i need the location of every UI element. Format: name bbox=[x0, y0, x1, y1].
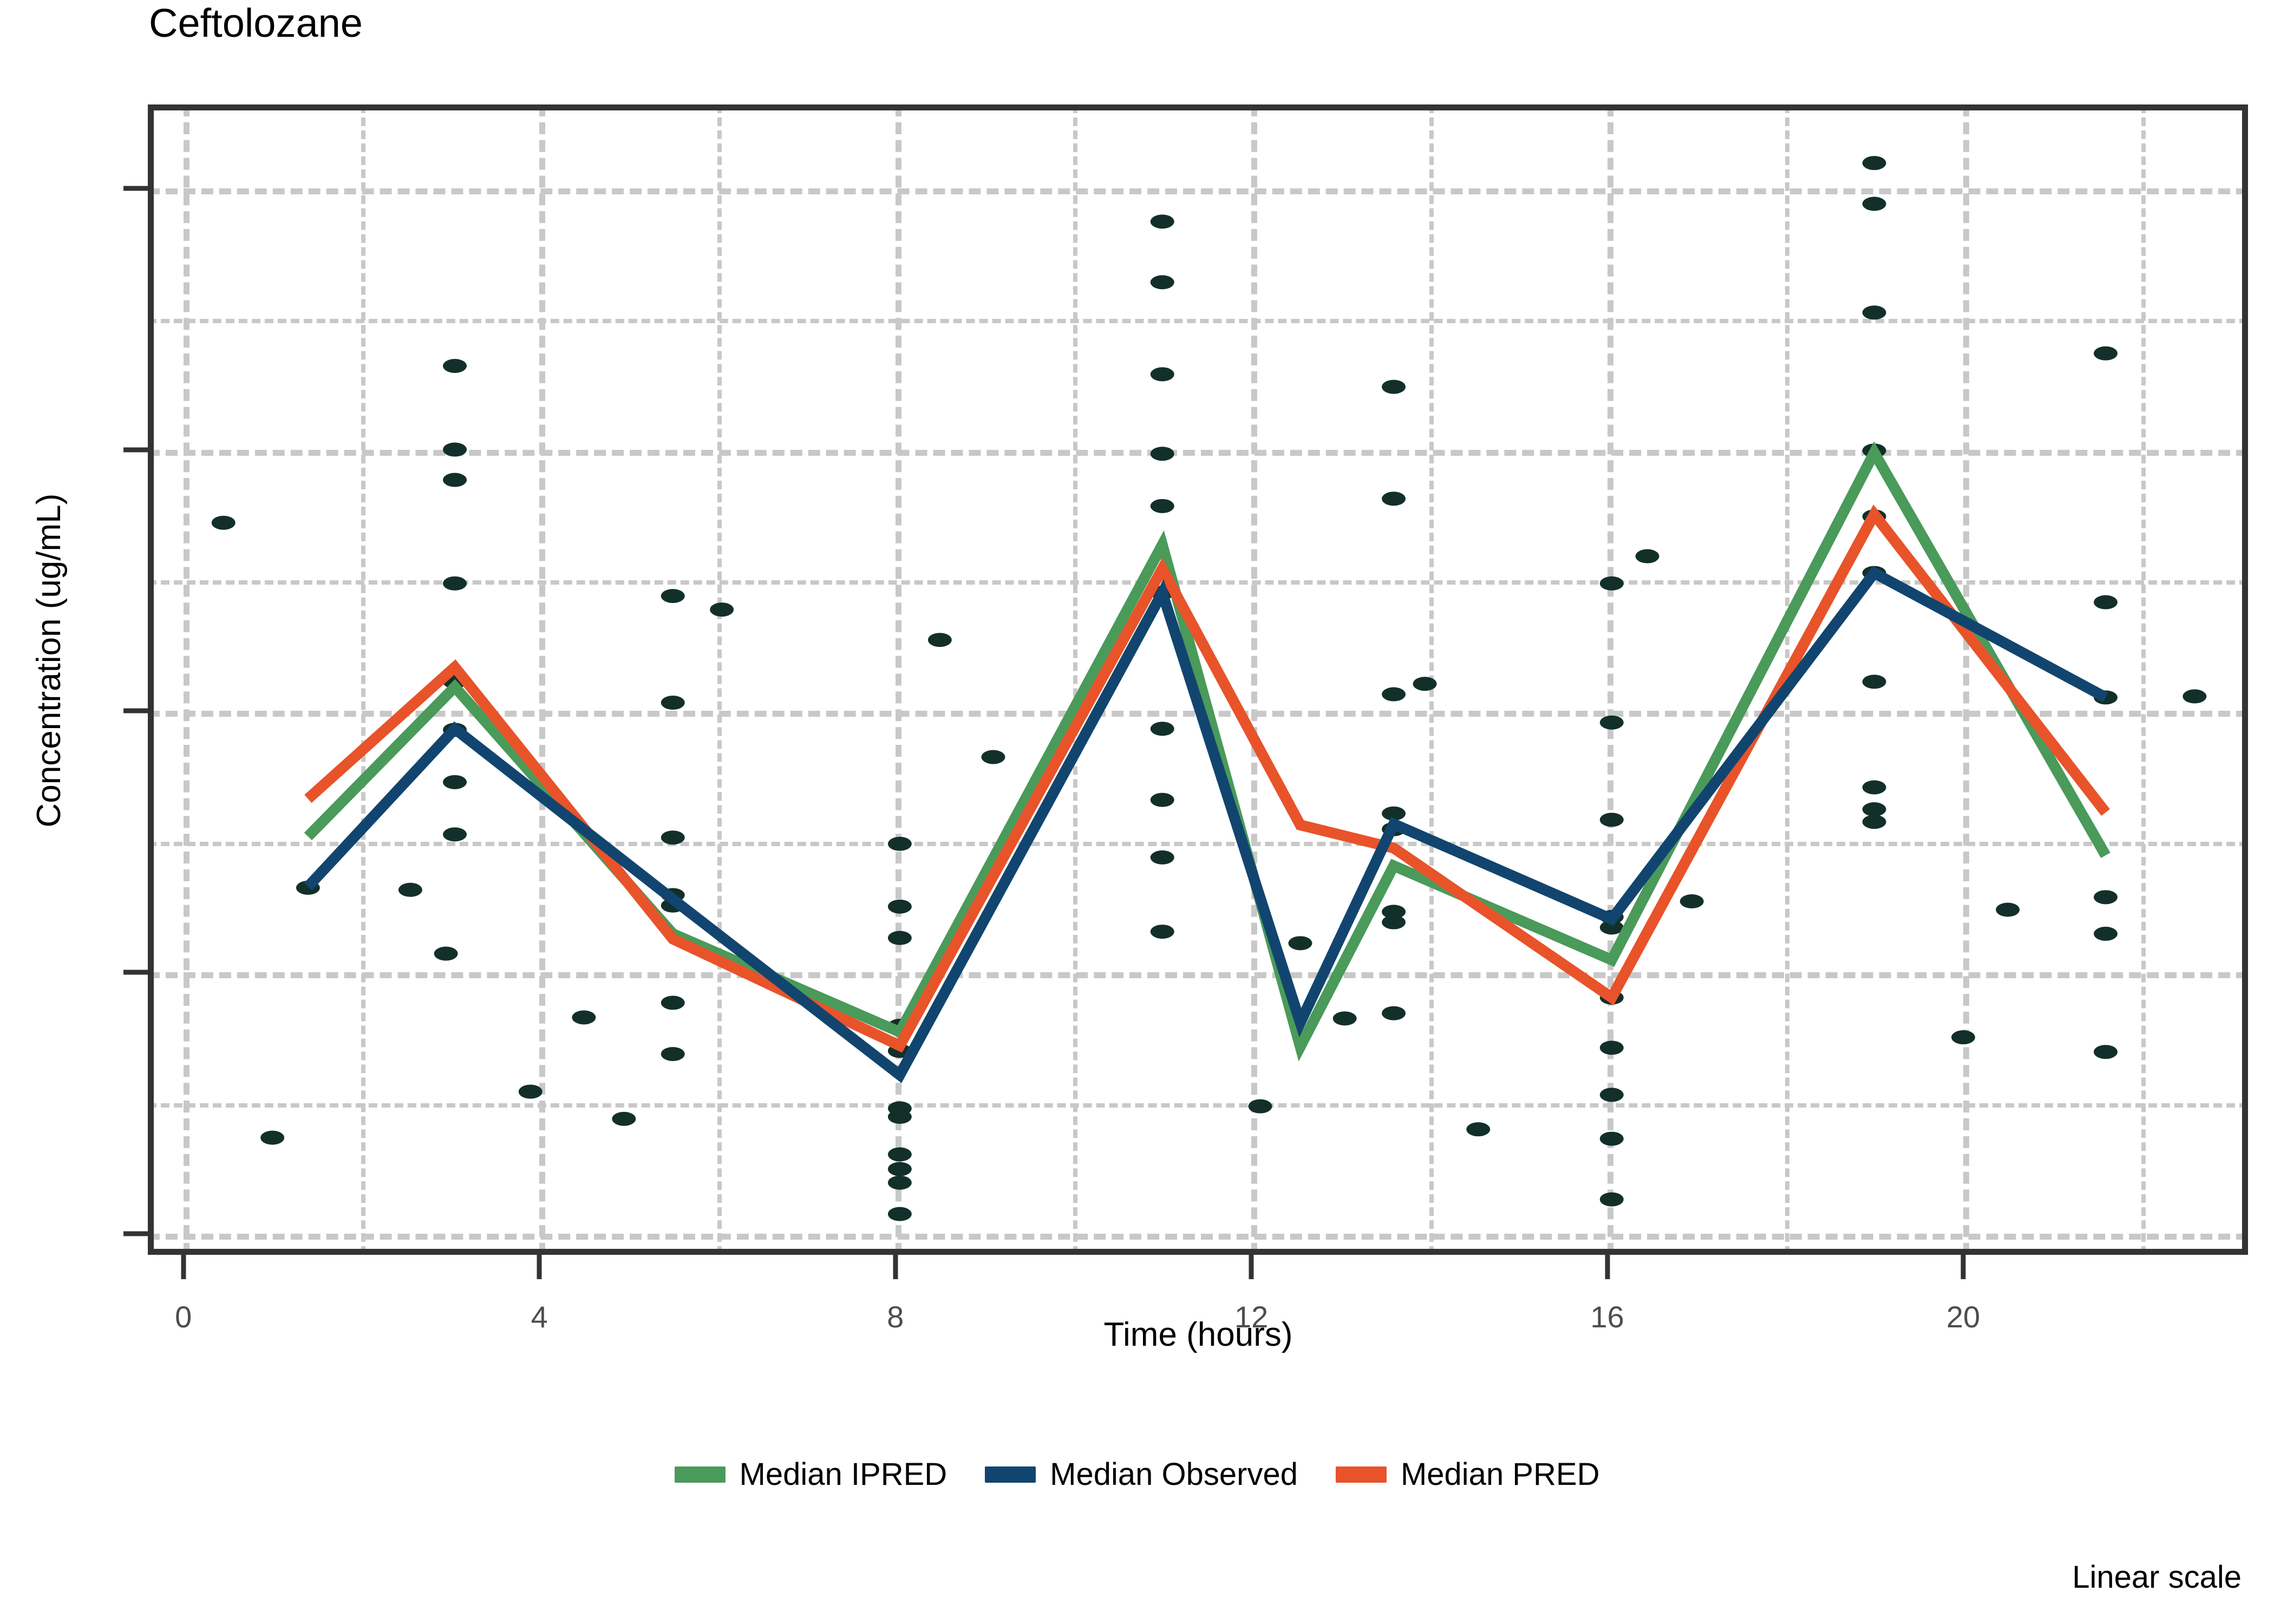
x-axis-label: Time (hours) bbox=[148, 1315, 2249, 1354]
legend-item[interactable]: Median PRED bbox=[1336, 1456, 1599, 1492]
observed-point bbox=[443, 577, 467, 591]
x-tick-mark bbox=[1605, 1255, 1610, 1279]
observed-point bbox=[1382, 915, 1406, 929]
observed-point bbox=[888, 931, 912, 945]
observed-point bbox=[710, 603, 734, 617]
scale-caption: Linear scale bbox=[2072, 1559, 2242, 1595]
observed-point bbox=[1249, 1099, 1272, 1114]
observed-point bbox=[2094, 595, 2118, 610]
observed-point bbox=[1600, 1088, 1624, 1102]
observed-point bbox=[1151, 447, 1174, 461]
observed-point bbox=[1151, 925, 1174, 939]
observed-point bbox=[981, 750, 1005, 764]
legend-label: Median IPRED bbox=[740, 1456, 948, 1492]
observed-point bbox=[434, 947, 458, 961]
observed-point bbox=[572, 1010, 596, 1024]
observed-point bbox=[1680, 894, 1704, 908]
observed-point bbox=[2094, 927, 2118, 941]
observed-point bbox=[612, 1112, 636, 1126]
y-tick-mark bbox=[123, 709, 148, 713]
observed-point bbox=[443, 359, 467, 373]
observed-point bbox=[1996, 903, 2020, 917]
legend-item[interactable]: Median IPRED bbox=[675, 1456, 948, 1492]
observed-point bbox=[888, 1176, 912, 1190]
observed-point bbox=[1333, 1011, 1357, 1025]
legend-label: Median Observed bbox=[1050, 1456, 1298, 1492]
observed-point bbox=[1863, 815, 1886, 829]
observed-point bbox=[1289, 936, 1312, 950]
legend-color-swatch-icon bbox=[1336, 1466, 1387, 1483]
observed-point bbox=[1863, 197, 1886, 211]
observed-point bbox=[1636, 549, 1659, 564]
observed-point bbox=[443, 827, 467, 841]
observed-point bbox=[888, 1110, 912, 1124]
y-tick-mark bbox=[123, 970, 148, 975]
observed-point bbox=[1951, 1030, 1975, 1044]
chart-root: Ceftolozane 0255075100048121620 Concentr… bbox=[0, 0, 2274, 1624]
observed-point bbox=[888, 1162, 912, 1176]
observed-point bbox=[1600, 813, 1624, 827]
observed-point bbox=[443, 443, 467, 457]
legend-color-swatch-icon bbox=[985, 1466, 1036, 1483]
observed-point bbox=[661, 830, 685, 844]
legend-label: Median PRED bbox=[1401, 1456, 1599, 1492]
observed-point bbox=[212, 516, 236, 530]
observed-points-group bbox=[212, 156, 2207, 1221]
observed-point bbox=[2094, 890, 2118, 904]
observed-point bbox=[1466, 1122, 1490, 1136]
observed-point bbox=[661, 1047, 685, 1061]
observed-point bbox=[1151, 850, 1174, 865]
observed-point bbox=[1863, 802, 1886, 816]
observed-point bbox=[928, 633, 952, 647]
observed-point bbox=[888, 900, 912, 914]
observed-point bbox=[1382, 687, 1406, 702]
legend-color-swatch-icon bbox=[675, 1466, 726, 1483]
series-line-median-ipred bbox=[308, 453, 2106, 1046]
observed-point bbox=[888, 1207, 912, 1221]
observed-point bbox=[1600, 1132, 1624, 1146]
observed-point bbox=[1382, 1006, 1406, 1020]
legend-item[interactable]: Median Observed bbox=[985, 1456, 1298, 1492]
x-tick-mark bbox=[893, 1255, 898, 1279]
x-tick-mark bbox=[181, 1255, 186, 1279]
observed-point bbox=[1151, 275, 1174, 289]
observed-point bbox=[443, 473, 467, 487]
observed-point bbox=[519, 1085, 543, 1099]
y-tick-mark bbox=[123, 186, 148, 191]
observed-point bbox=[1151, 722, 1174, 736]
observed-point bbox=[1863, 156, 1886, 170]
x-tick-mark bbox=[1249, 1255, 1254, 1279]
observed-point bbox=[661, 696, 685, 710]
series-line-median-pred bbox=[308, 514, 2106, 1045]
observed-point bbox=[1863, 780, 1886, 794]
observed-point bbox=[661, 589, 685, 603]
observed-point bbox=[398, 883, 422, 897]
observed-point bbox=[888, 1148, 912, 1162]
x-tick-mark bbox=[537, 1255, 542, 1279]
observed-point bbox=[260, 1131, 284, 1145]
y-tick-mark bbox=[123, 447, 148, 452]
observed-point bbox=[1151, 367, 1174, 381]
observed-point bbox=[1600, 716, 1624, 730]
page-title: Ceftolozane bbox=[149, 3, 363, 43]
observed-point bbox=[2094, 1045, 2118, 1059]
observed-point bbox=[2094, 346, 2118, 361]
observed-point bbox=[1151, 499, 1174, 513]
observed-point bbox=[1863, 675, 1886, 689]
observed-point bbox=[2182, 689, 2206, 703]
observed-point bbox=[1413, 677, 1437, 691]
observed-point bbox=[1863, 305, 1886, 319]
observed-point bbox=[1600, 1041, 1624, 1055]
observed-point bbox=[1151, 793, 1174, 807]
observed-point bbox=[1151, 214, 1174, 228]
observed-point bbox=[443, 775, 467, 789]
observed-point bbox=[1382, 380, 1406, 394]
observed-point bbox=[888, 837, 912, 851]
observed-point bbox=[1600, 577, 1624, 591]
chart-legend: Median IPREDMedian ObservedMedian PRED bbox=[0, 1456, 2274, 1492]
chart-data-layer bbox=[148, 104, 2248, 1255]
observed-point bbox=[1600, 1193, 1624, 1207]
observed-point bbox=[661, 996, 685, 1010]
observed-point bbox=[1382, 492, 1406, 506]
y-tick-mark bbox=[123, 1232, 148, 1236]
x-tick-mark bbox=[1961, 1255, 1966, 1279]
y-axis-label: Concentration (ug/mL) bbox=[30, 65, 68, 1256]
